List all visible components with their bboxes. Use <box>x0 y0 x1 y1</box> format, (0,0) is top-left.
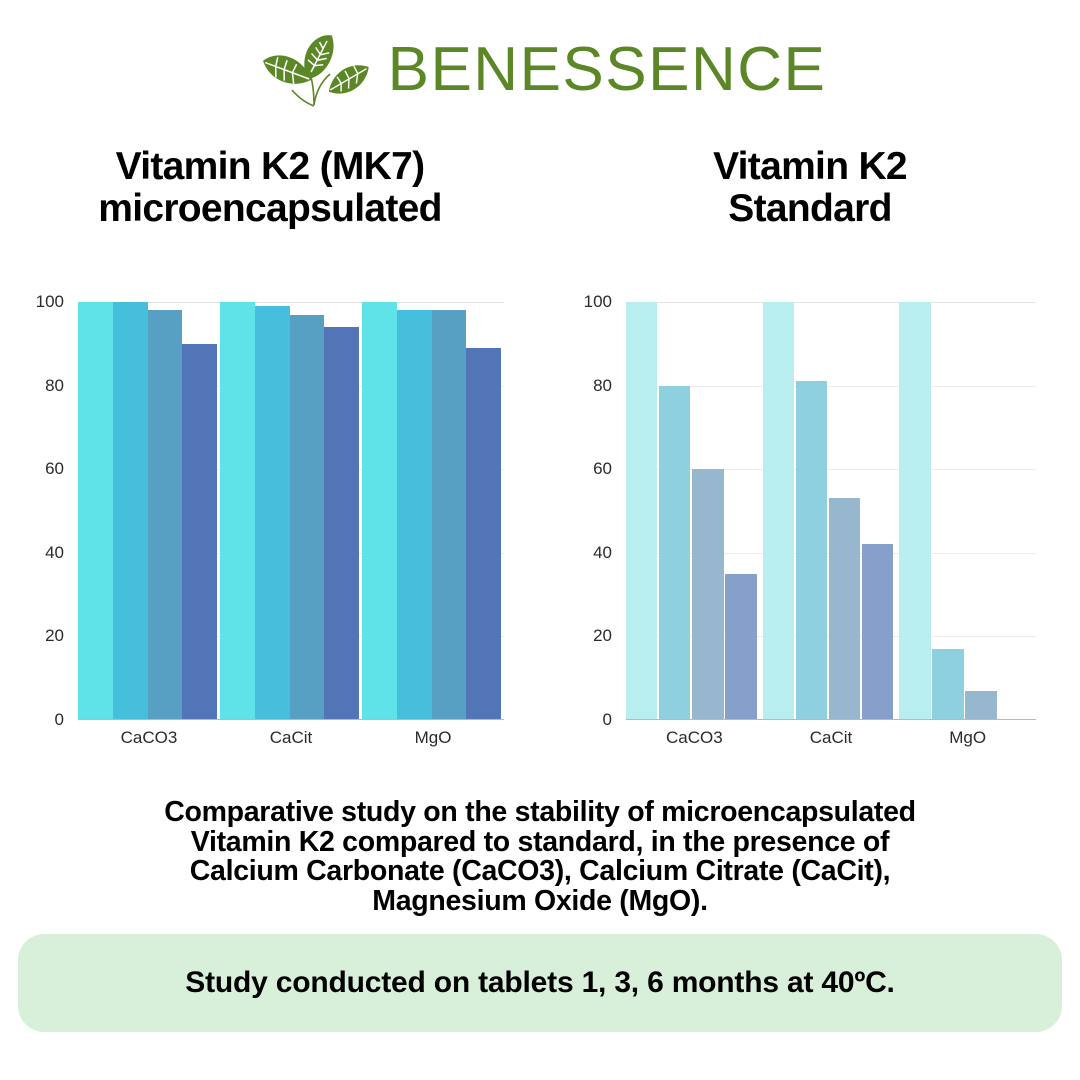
x-label-CaCO3: CaCO3 <box>78 728 220 756</box>
y-axis-right: 020406080100 <box>540 302 620 720</box>
bar-CaCO3-0-months <box>78 302 113 720</box>
bar-MgO-3-months <box>432 310 467 720</box>
study-conditions-text: Study conducted on tablets 1, 3, 6 month… <box>185 966 894 1000</box>
bar-group-CaCit <box>763 302 900 720</box>
y-tick-100: 100 <box>36 292 64 312</box>
bar-CaCit-1-month <box>796 381 827 720</box>
study-conditions-banner: Study conducted on tablets 1, 3, 6 month… <box>18 934 1062 1032</box>
bar-CaCO3-6-months <box>725 574 756 720</box>
y-tick-40: 40 <box>45 543 64 563</box>
study-caption: Comparative study on the stability of mi… <box>50 798 1030 917</box>
y-tick-80: 80 <box>593 376 612 396</box>
bar-MgO-1-month <box>397 310 432 720</box>
bar-group-MgO <box>899 302 1036 720</box>
bar-chart-standard: 020406080100 CaCO3CaCitMgO <box>540 292 1080 752</box>
x-axis-labels-right: CaCO3CaCitMgO <box>626 728 1036 756</box>
bar-CaCit-6-months <box>324 327 359 720</box>
charts-container: 020406080100 CaCO3CaCitMgO 020406080100 … <box>0 292 1080 752</box>
bar-CaCit-3-months <box>290 315 325 720</box>
bar-CaCit-1-month <box>255 306 290 720</box>
bar-MgO-6-months <box>466 348 501 720</box>
x-axis-labels-left: CaCO3CaCitMgO <box>78 728 504 756</box>
x-label-CaCit: CaCit <box>763 728 900 756</box>
x-axis-line-right <box>626 719 1036 721</box>
bar-CaCit-0-months <box>220 302 255 720</box>
three-leaves-icon <box>254 27 374 113</box>
bar-MgO-0-months <box>362 302 397 720</box>
y-tick-80: 80 <box>45 376 64 396</box>
bar-groups-left <box>78 302 504 720</box>
x-axis-line-left <box>78 719 504 721</box>
bar-group-MgO <box>362 302 504 720</box>
plot-area-right <box>626 302 1036 720</box>
bar-chart-microencapsulated: 020406080100 CaCO3CaCitMgO <box>0 292 540 752</box>
bar-group-CaCO3 <box>78 302 220 720</box>
bar-group-CaCO3 <box>626 302 763 720</box>
x-label-CaCit: CaCit <box>220 728 362 756</box>
chart-title-standard: Vitamin K2 Standard <box>713 146 907 229</box>
bar-CaCO3-3-months <box>148 310 183 720</box>
bar-MgO-1-month <box>932 649 963 720</box>
x-label-MgO: MgO <box>362 728 504 756</box>
chart-title-cell-left: Vitamin K2 (MK7) microencapsulated <box>0 146 540 246</box>
y-tick-60: 60 <box>45 459 64 479</box>
bar-CaCit-6-months <box>862 544 893 720</box>
x-label-MgO: MgO <box>899 728 1036 756</box>
bar-CaCO3-1-month <box>113 302 148 720</box>
y-tick-100: 100 <box>584 292 612 312</box>
bar-MgO-3-months <box>965 691 996 720</box>
chart-titles-row: Vitamin K2 (MK7) microencapsulated Vitam… <box>0 146 1080 246</box>
bar-CaCit-3-months <box>829 498 860 720</box>
brand-name: BENESSENCE <box>388 39 827 101</box>
bar-CaCO3-6-months <box>182 344 217 720</box>
bar-CaCO3-0-months <box>626 302 657 720</box>
chart-title-microencapsulated: Vitamin K2 (MK7) microencapsulated <box>98 146 442 229</box>
plot-area-left <box>78 302 504 720</box>
y-tick-20: 20 <box>45 626 64 646</box>
bar-group-CaCit <box>220 302 362 720</box>
y-tick-0: 0 <box>603 710 612 730</box>
y-tick-60: 60 <box>593 459 612 479</box>
brand-logo: BENESSENCE <box>0 24 1080 116</box>
bar-CaCO3-1-month <box>659 386 690 720</box>
bar-MgO-0-months <box>899 302 930 720</box>
bar-CaCit-0-months <box>763 302 794 720</box>
y-tick-40: 40 <box>593 543 612 563</box>
y-tick-20: 20 <box>593 626 612 646</box>
bar-groups-right <box>626 302 1036 720</box>
chart-title-cell-right: Vitamin K2 Standard <box>540 146 1080 246</box>
bar-CaCO3-3-months <box>692 469 723 720</box>
y-axis-left: 020406080100 <box>0 302 72 720</box>
y-tick-0: 0 <box>55 710 64 730</box>
x-label-CaCO3: CaCO3 <box>626 728 763 756</box>
